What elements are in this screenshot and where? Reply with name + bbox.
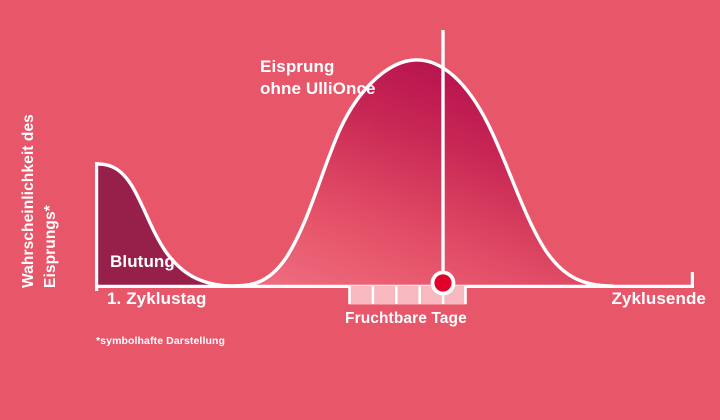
- bleeding-label: Blutung: [110, 252, 175, 272]
- ovulation-annotation-line2: ohne UlliOnce: [260, 78, 480, 100]
- ovulation-day-marker: [431, 271, 456, 296]
- ovulation-annotation: Eisprung ohne UlliOnce: [260, 56, 480, 100]
- y-axis-label-text: Wahrscheinlichkeit des Eisprungs*: [18, 88, 63, 288]
- cycle-end-label: Zyklusende: [611, 289, 706, 309]
- y-axis-label: Wahrscheinlichkeit des Eisprungs*: [18, 88, 72, 288]
- fertile-days-label: Fruchtbare Tage: [345, 310, 467, 328]
- ovulation-annotation-line1: Eisprung: [260, 56, 480, 78]
- figure-canvas: Wahrscheinlichkeit des Eisprungs* Eispru…: [0, 0, 720, 420]
- footnote-text: *symbolhafte Darstellung: [96, 335, 225, 347]
- first-cycle-day-label: 1. Zyklustag: [107, 289, 206, 309]
